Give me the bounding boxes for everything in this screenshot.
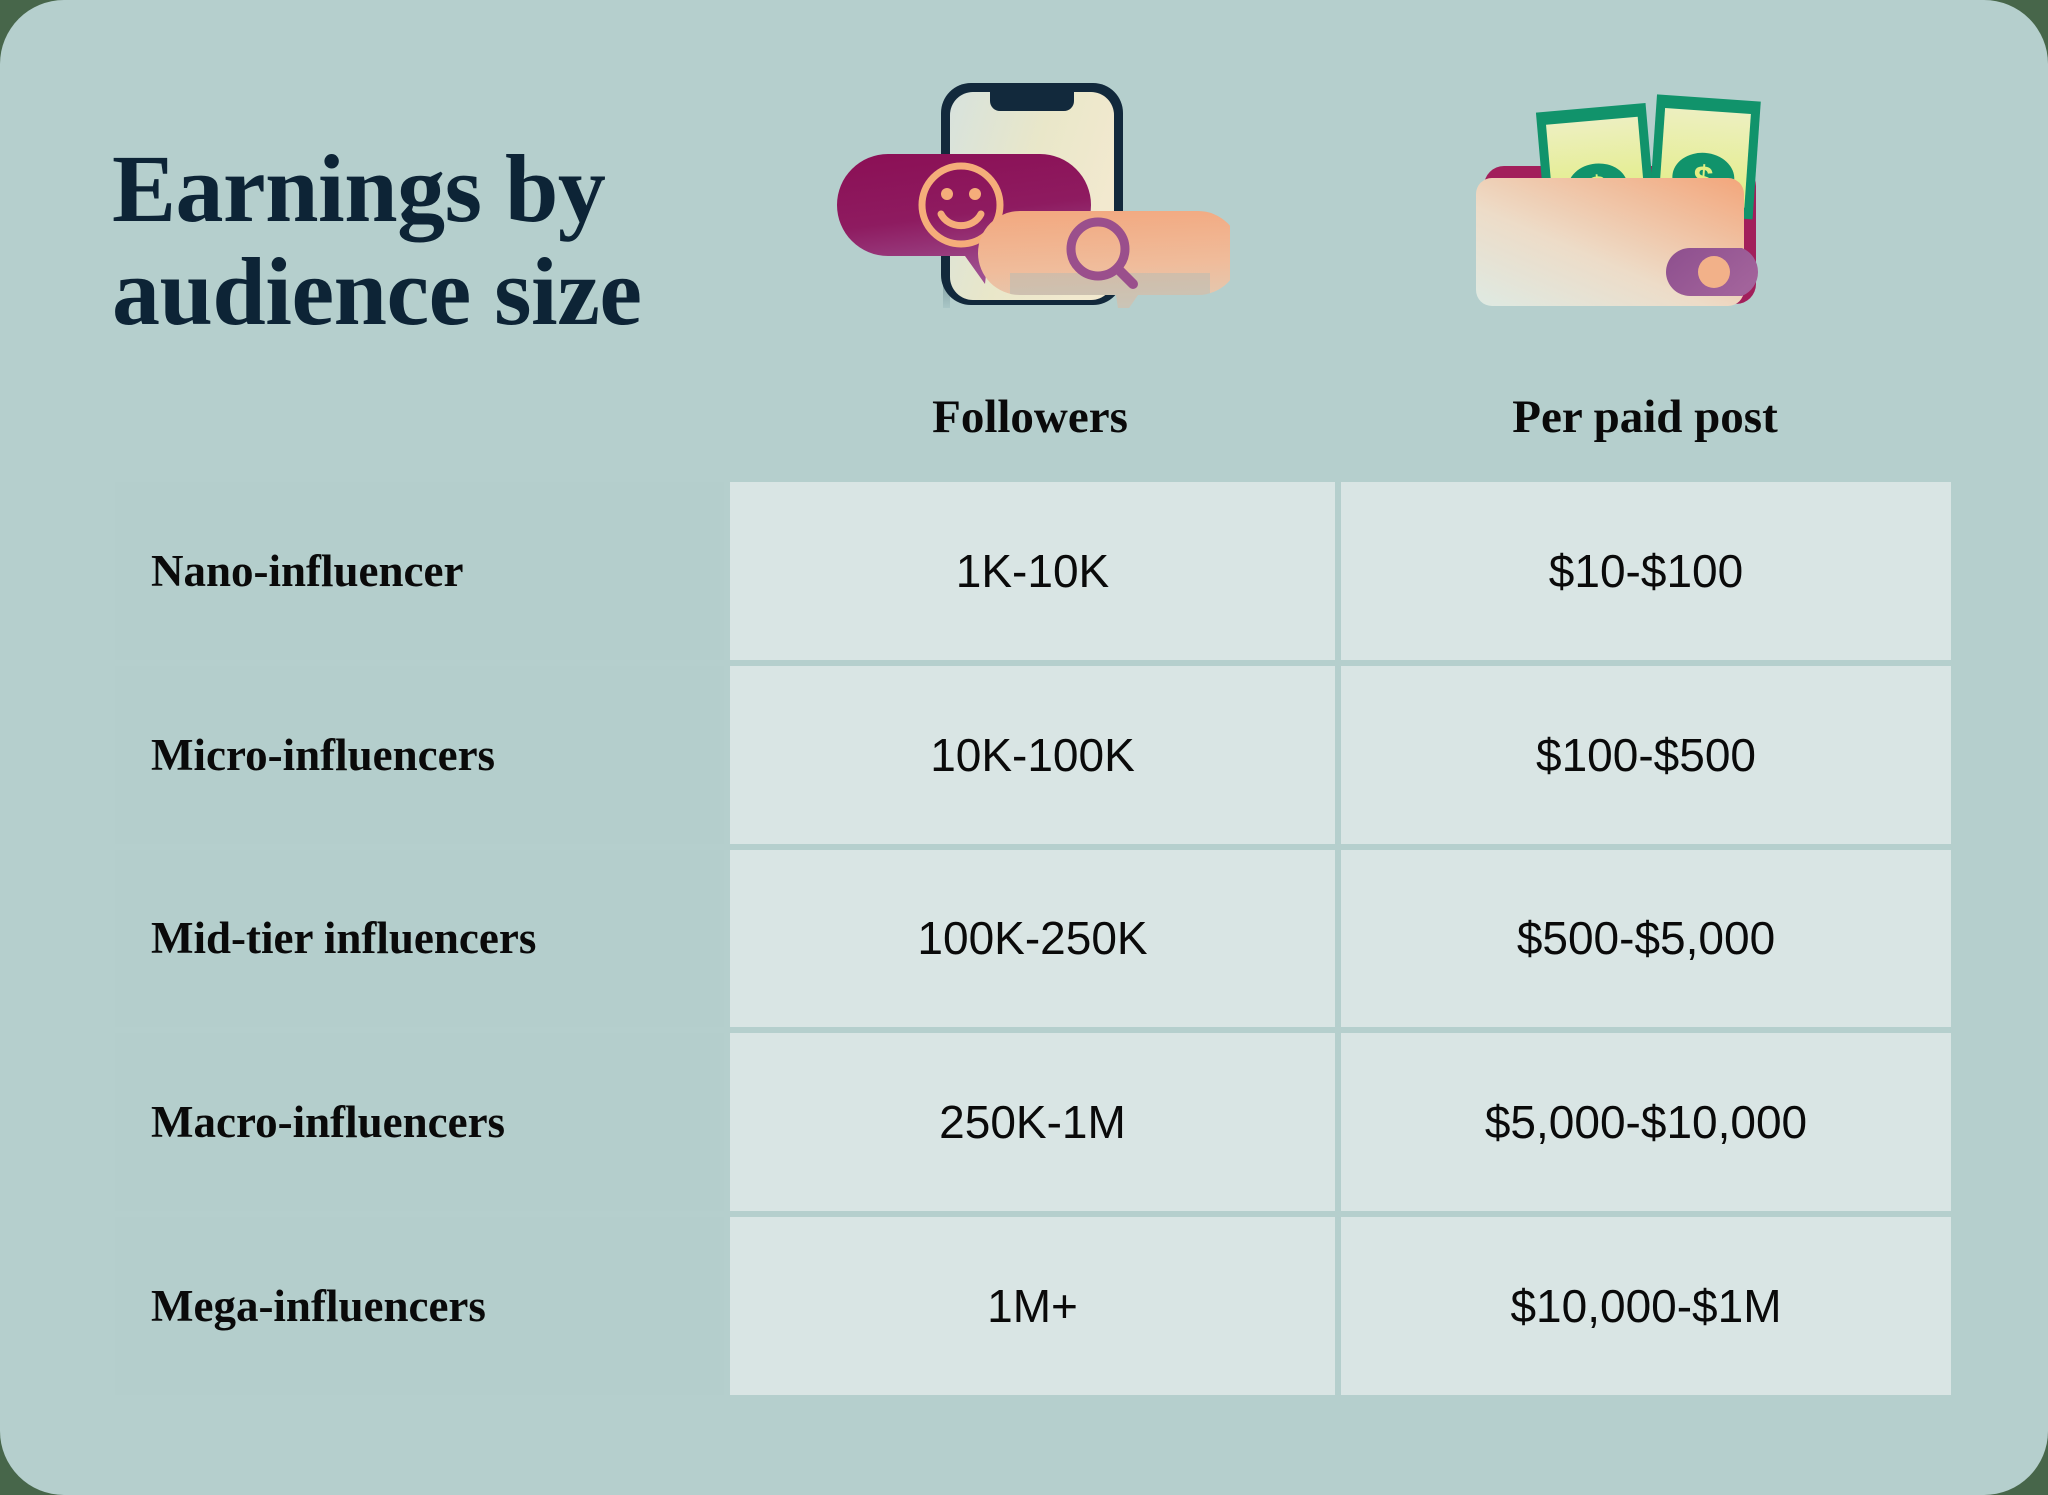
cell-tier: Micro-influencers <box>115 666 724 844</box>
cell-per-paid-post: $500-$5,000 <box>1341 850 1951 1028</box>
cell-per-paid-post: $10,000-$1M <box>1341 1217 1951 1395</box>
table-row: Micro-influencers 10K-100K $100-$500 <box>115 666 1951 844</box>
phone-chat-bubbles-icon <box>830 78 1230 308</box>
cell-tier: Macro-influencers <box>115 1033 724 1211</box>
column-header-per-paid-post: Per paid post <box>1340 390 1950 444</box>
table-row: Mega-influencers 1M+ $10,000-$1M <box>115 1217 1951 1395</box>
cell-followers: 10K-100K <box>730 666 1335 844</box>
table-row: Mid-tier influencers 100K-250K $500-$5,0… <box>115 850 1951 1028</box>
cell-per-paid-post: $5,000-$10,000 <box>1341 1033 1951 1211</box>
cell-per-paid-post: $10-$100 <box>1341 482 1951 660</box>
cell-tier: Mid-tier influencers <box>115 850 724 1028</box>
infographic-card: Earnings by audience size <box>0 0 2048 1495</box>
cell-followers: 1M+ <box>730 1217 1335 1395</box>
table-row: Nano-influencer 1K-10K $10-$100 <box>115 482 1951 660</box>
cell-per-paid-post: $100-$500 <box>1341 666 1951 844</box>
cell-followers: 250K-1M <box>730 1033 1335 1211</box>
page-title: Earnings by audience size <box>112 138 772 343</box>
earnings-table: Nano-influencer 1K-10K $10-$100 Micro-in… <box>115 482 1951 1395</box>
wallet-cash-icon: $ $ <box>1448 78 1778 308</box>
cell-tier: Mega-influencers <box>115 1217 724 1395</box>
cell-followers: 1K-10K <box>730 482 1335 660</box>
cell-tier: Nano-influencer <box>115 482 724 660</box>
table-row: Macro-influencers 250K-1M $5,000-$10,000 <box>115 1033 1951 1211</box>
cell-followers: 100K-250K <box>730 850 1335 1028</box>
column-header-followers: Followers <box>730 390 1330 444</box>
